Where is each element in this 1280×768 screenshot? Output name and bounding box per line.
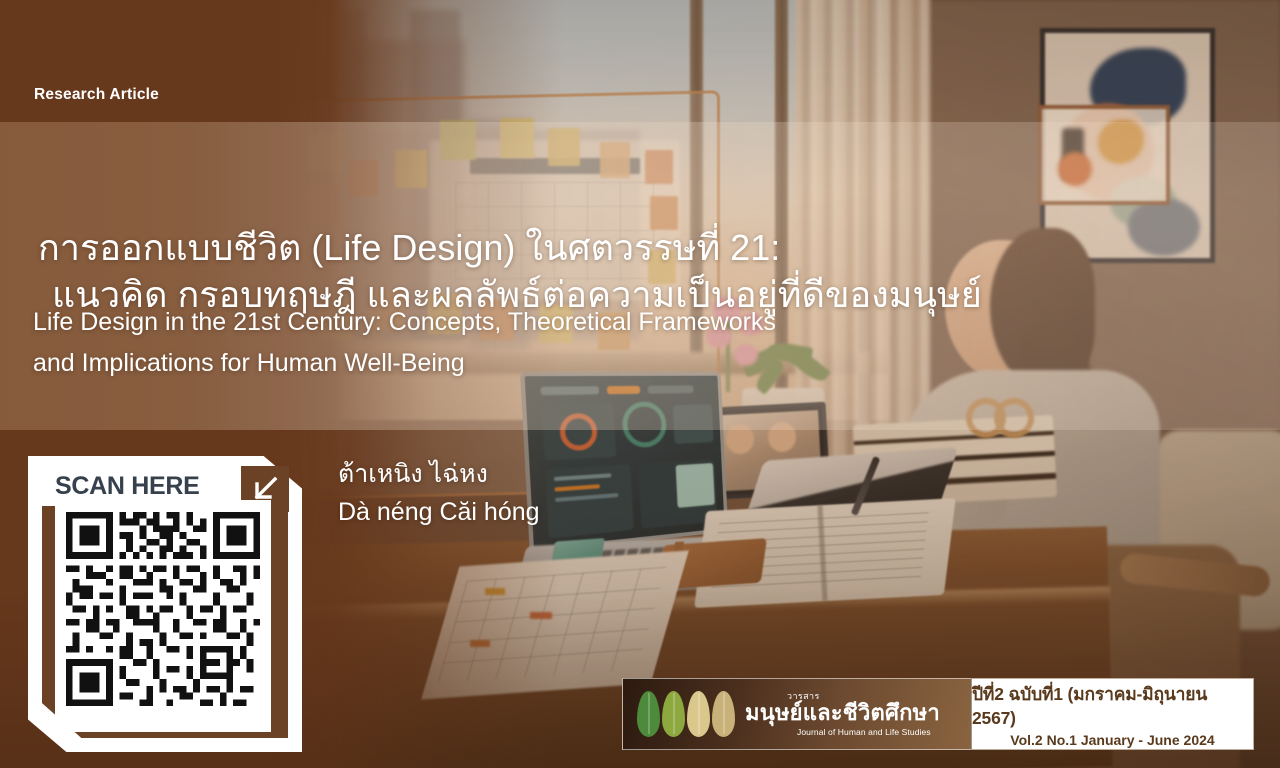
- scan-here-label: SCAN HERE: [55, 472, 200, 501]
- journal-banner: วารสาร มนุษย์และชีวิตศึกษา Journal of Hu…: [622, 678, 1254, 750]
- issue-english: Vol.2 No.1 January - June 2024: [1010, 732, 1214, 748]
- journal-name-thai: มนุษย์และชีวิตศึกษา: [745, 702, 940, 724]
- leaf-icons: [637, 691, 735, 737]
- title-thai-line-1: การออกแบบชีวิต (Life Design) ในศตวรรษที่…: [38, 227, 780, 268]
- issue-thai: ปีที่2 ฉบับที่1 (มกราคม-มิถุนายน 2567): [972, 680, 1253, 729]
- journal-name-english: Journal of Human and Life Studies: [797, 728, 940, 737]
- journal-issue-block: ปีที่2 ฉบับที่1 (มกราคม-มิถุนายน 2567) V…: [972, 678, 1254, 750]
- author-block: ต้าเหนิง ไฉ่หง Dà néng Căi hóng: [338, 455, 540, 531]
- leaf-icon: [687, 691, 710, 737]
- title-english-line-1: Life Design in the 21st Century: Concept…: [33, 302, 1033, 343]
- leaf-icon: [662, 691, 685, 737]
- journal-logo-block: วารสาร มนุษย์และชีวิตศึกษา Journal of Hu…: [622, 678, 972, 750]
- title-english-line-2: and Implications for Human Well-Being: [33, 343, 1033, 384]
- leaf-icon: [712, 691, 735, 737]
- author-name-thai: ต้าเหนิง ไฉ่หง: [338, 455, 540, 493]
- journal-title-group: วารสาร มนุษย์และชีวิตศึกษา Journal of Hu…: [745, 692, 940, 737]
- article-type-label: Research Article: [34, 86, 159, 104]
- author-name-romanized: Dà néng Căi hóng: [338, 493, 540, 531]
- title-english: Life Design in the 21st Century: Concept…: [33, 302, 1033, 383]
- leaf-icon: [637, 691, 660, 737]
- article-cover: Research Article การออกแบบชีวิต (Life De…: [0, 0, 1280, 768]
- qr-code[interactable]: [66, 512, 260, 706]
